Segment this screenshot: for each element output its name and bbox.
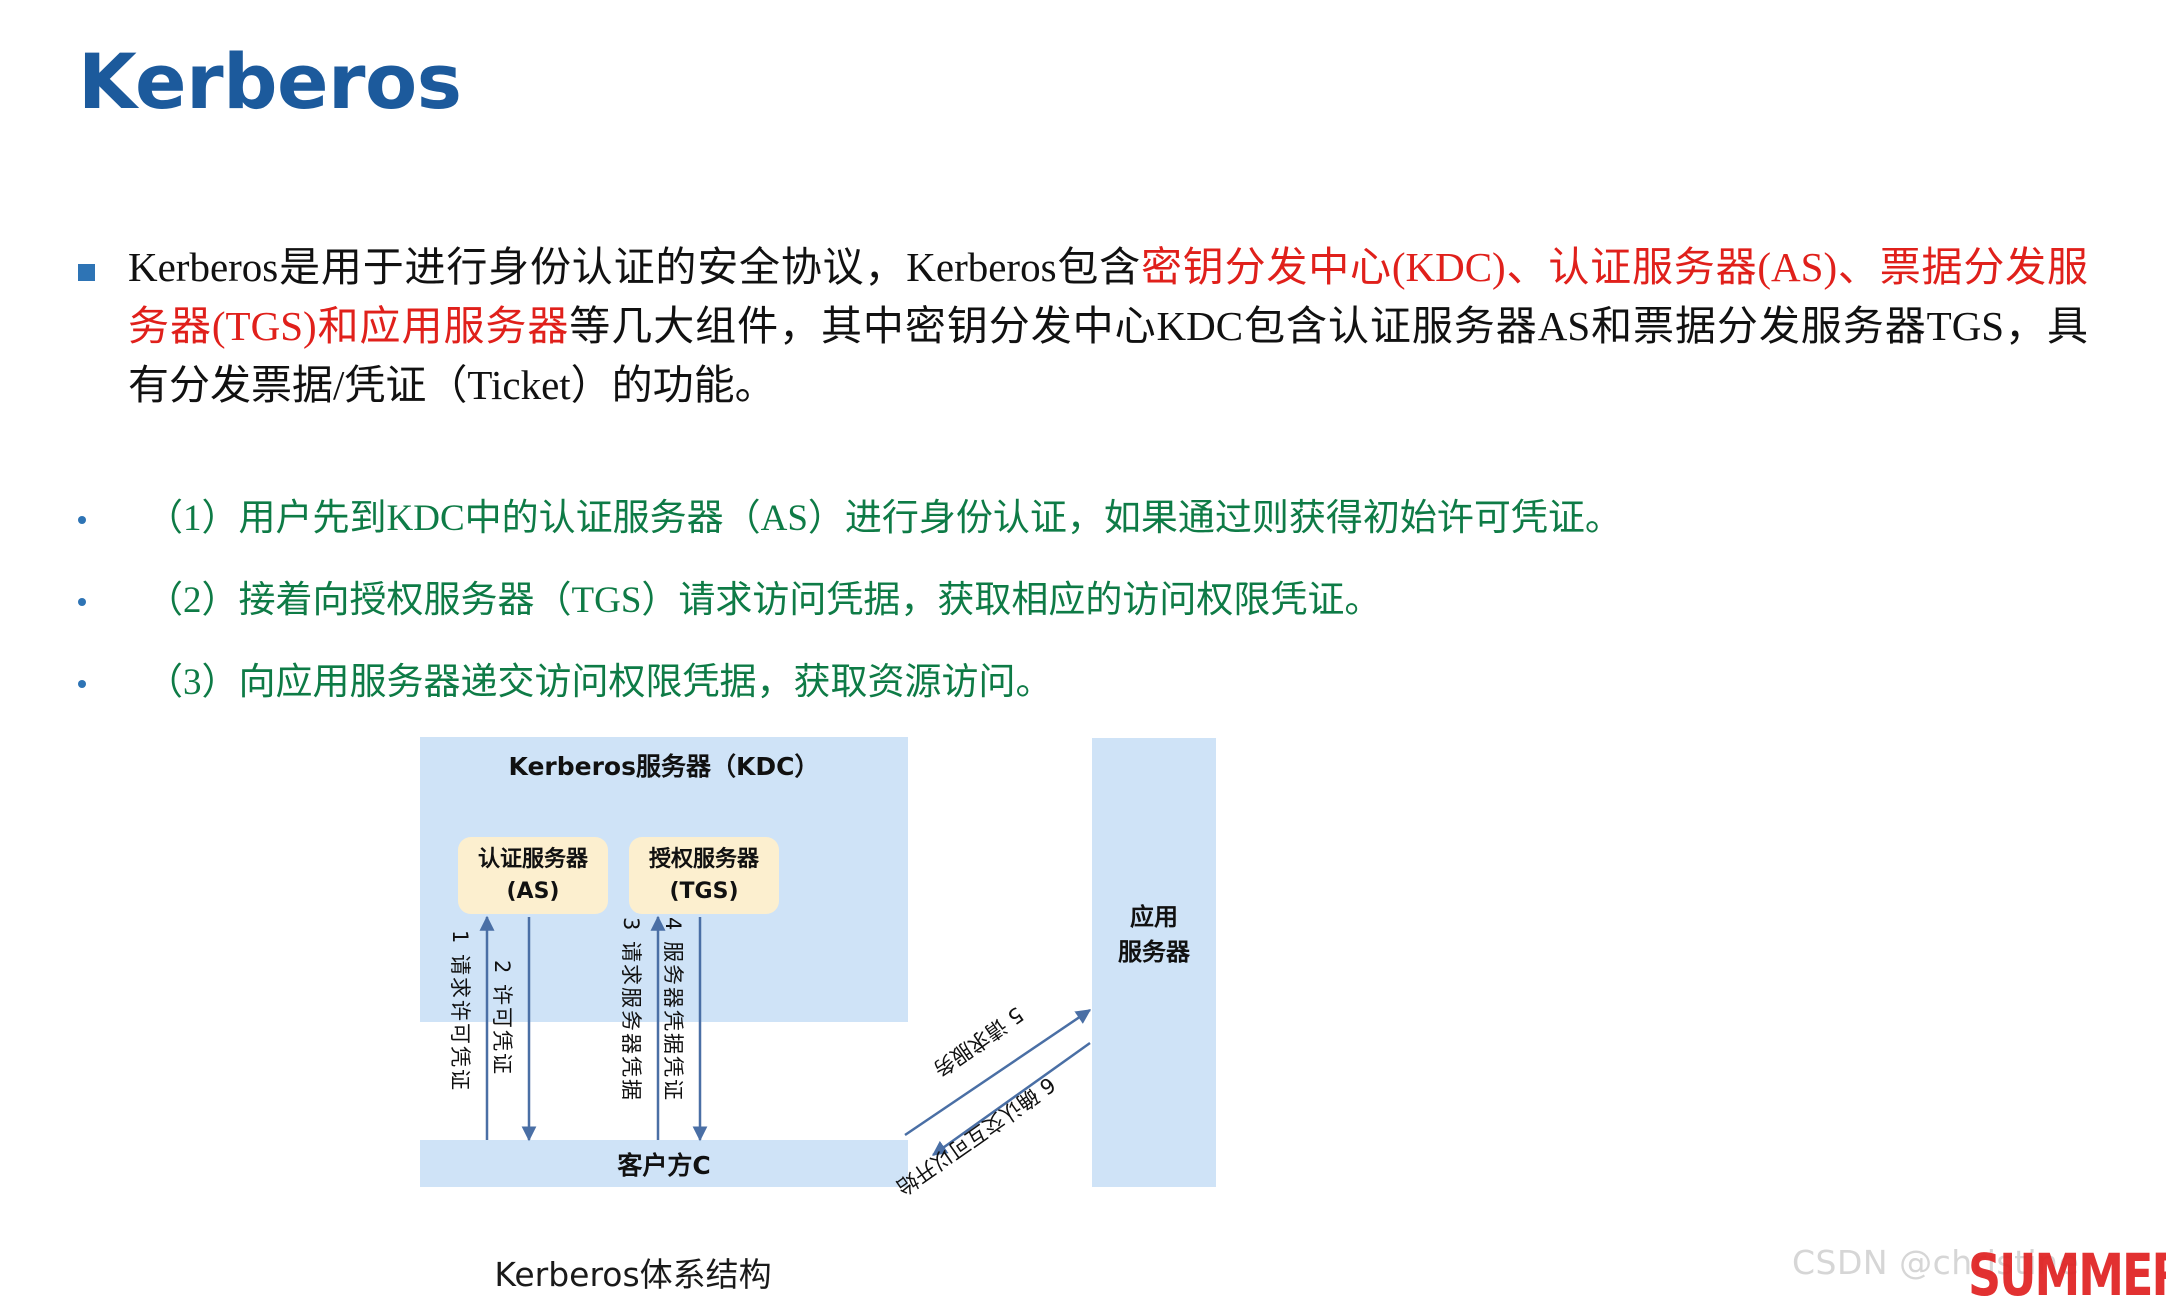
- summer-logo-watermark: SUMMER: [1968, 1241, 2166, 1309]
- step-line-1: （1）用户先到KDC中的认证服务器（AS）进行身份认证，如果通过则获得初始许可凭…: [78, 500, 1622, 537]
- dot-bullet-icon: [78, 598, 86, 606]
- body-segment-1: Kerberos是用于进行身份认证的安全协议，Kerberos包含: [128, 244, 1141, 290]
- diagram-caption: Kerberos体系结构: [0, 1248, 1266, 1296]
- dot-bullet-icon: [78, 516, 86, 524]
- kerberos-architecture-diagram: Kerberos服务器（KDC） 认证服务器 (AS) 授权服务器 (TGS) …: [0, 725, 2166, 1245]
- flow-label-3: 3 请求服务器凭据: [617, 917, 647, 1102]
- slide-canvas: Kerberos Kerberos是用于进行身份认证的安全协议，Kerberos…: [0, 0, 2166, 1312]
- page-title: Kerberos: [78, 44, 461, 120]
- dot-bullet-icon: [78, 680, 86, 688]
- flow-label-1: 1 请求许可凭证: [446, 930, 476, 1092]
- step-2-text: （2）接着向授权服务器（TGS）请求访问凭据，获取相应的访问权限凭证。: [146, 582, 1381, 619]
- step-1-text: （1）用户先到KDC中的认证服务器（AS）进行身份认证，如果通过则获得初始许可凭…: [146, 500, 1622, 537]
- body-paragraph: Kerberos是用于进行身份认证的安全协议，Kerberos包含密钥分发中心(…: [128, 238, 2088, 415]
- square-bullet-icon: [78, 264, 95, 281]
- flow-label-2: 2 许可凭证: [488, 960, 518, 1076]
- body-paragraph-block: Kerberos是用于进行身份认证的安全协议，Kerberos包含密钥分发中心(…: [78, 238, 2088, 415]
- flow-label-4: 4 服务器凭据凭证: [659, 917, 689, 1102]
- flow-arrows-svg: [0, 725, 2166, 1245]
- step-line-2: （2）接着向授权服务器（TGS）请求访问凭据，获取相应的访问权限凭证。: [78, 582, 1381, 619]
- step-line-3: （3）向应用服务器递交访问权限凭据，获取资源访问。: [78, 664, 1053, 701]
- step-3-text: （3）向应用服务器递交访问权限凭据，获取资源访问。: [146, 664, 1053, 701]
